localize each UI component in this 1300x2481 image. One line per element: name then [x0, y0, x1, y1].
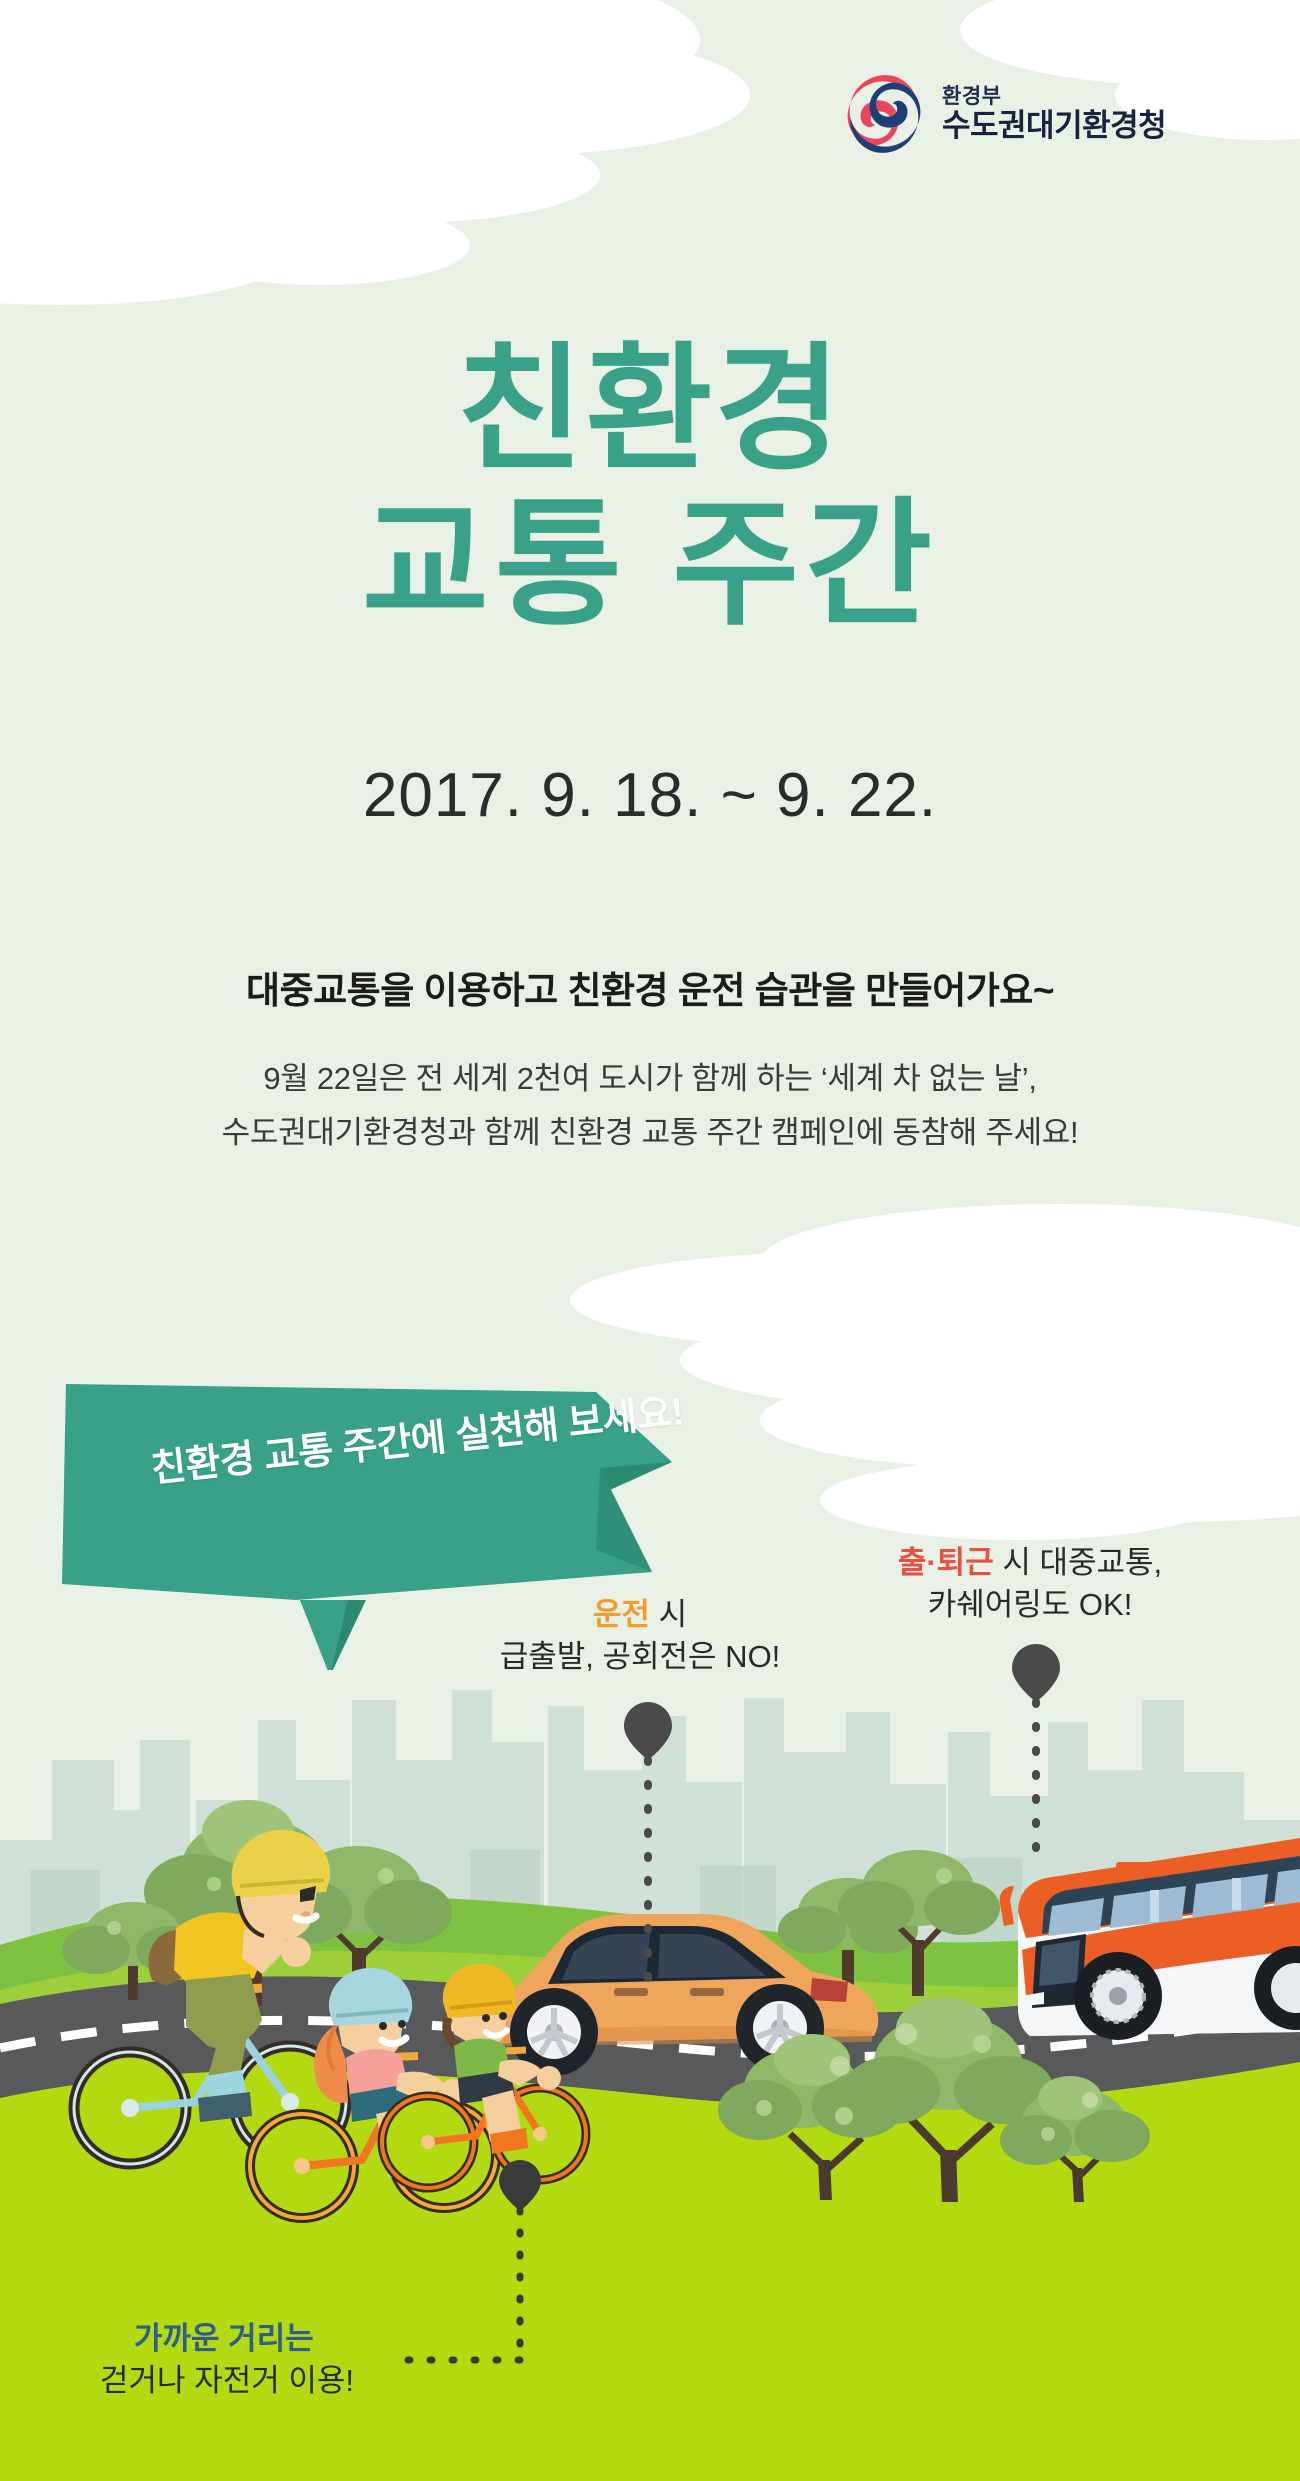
- body-sub-line-1: 9월 22일은 전 세계 2천여 도시가 함께 하는 ‘세계 차 없는 날’,: [0, 1054, 1300, 1104]
- callout-commute-line1-rest: 시 대중교통,: [994, 1545, 1162, 1580]
- body-sub-line-2: 수도권대기환경청과 함께 친환경 교통 주간 캠페인에 동참해 주세요!: [0, 1108, 1300, 1158]
- adult-hand: [281, 1937, 311, 1967]
- campaign-date-range: 2017. 9. 18. ~ 9. 22.: [0, 760, 1300, 831]
- body-copy-block: 대중교통을 이용하고 친환경 운전 습관을 만들어가요~ 9월 22일은 전 세…: [0, 960, 1300, 1158]
- headline-line-1: 친환경: [0, 340, 1300, 481]
- callout-walking-line2: 걷거나 자전거 이용!: [100, 2360, 460, 2402]
- poster-headline: 친환경 교통 주간: [0, 340, 1300, 636]
- lead-slogan: 대중교통을 이용하고 친환경 운전 습관을 만들어가요~: [0, 960, 1300, 1014]
- headline-line-2: 교통 주간: [0, 495, 1300, 636]
- government-logo: 환경부 수도권대기환경청: [840, 70, 1166, 158]
- callout-walking-emphasis: 가까운 거리는: [134, 2321, 314, 2356]
- taegeuk-symbol-icon: [840, 70, 928, 158]
- poster-canvas: 환경부 수도권대기환경청 친환경 교통 주간 2017. 9. 18. ~ 9.…: [0, 0, 1300, 2481]
- logo-agency-label: 수도권대기환경청: [942, 110, 1166, 143]
- bus-wheel-front: [1074, 1952, 1162, 2040]
- callout-commute: 출·퇴근 시 대중교통, 카쉐어링도 OK!: [830, 1542, 1230, 1625]
- logo-ministry-label: 환경부: [942, 86, 1166, 108]
- callout-walking: 가까운 거리는 걷거나 자전거 이용!: [100, 2318, 460, 2401]
- callout-commute-emphasis: 출·퇴근: [898, 1545, 994, 1580]
- callout-commute-line2: 카쉐어링도 OK!: [830, 1584, 1230, 1626]
